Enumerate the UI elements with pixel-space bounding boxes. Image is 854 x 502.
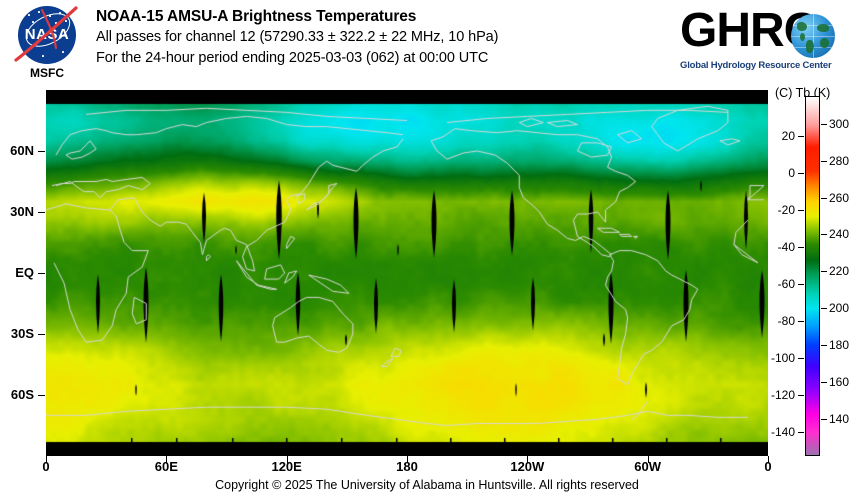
colorbar-tick-kelvin [821,161,827,162]
ghrc-logo: GHRC Global Hydrology Resource Center [678,4,846,80]
colorbar-tick-celsius [798,210,804,211]
page-header: NASA MSFC NOAA-15 AMSU-A Brightness Temp… [0,0,854,90]
page-title: NOAA-15 AMSU-A Brightness Temperatures [96,7,676,27]
map-y-label: 60S [0,387,34,402]
map-y-label: EQ [0,265,34,280]
map-y-tick [38,212,45,213]
colorbar-label-celsius: -140 [760,425,795,439]
colorbar-tick-celsius [798,432,804,433]
globe-icon [791,14,835,58]
map-raster [46,90,768,456]
colorbar-tick-celsius [798,284,804,285]
colorbar-label-celsius: 0 [760,166,795,180]
colorbar-tick-celsius [798,173,804,174]
nasa-wordmark: NASA [18,26,76,43]
colorbar-tick-celsius [798,247,804,248]
map-y-label: 30S [0,326,34,341]
colorbar-label-celsius: 20 [760,129,795,143]
colorbar-tick-kelvin [821,198,827,199]
colorbar-tick-kelvin [821,124,827,125]
colorbar-label-kelvin: 200 [829,301,849,315]
colorbar-tick-celsius [798,321,804,322]
colorbar-label-celsius: -100 [760,351,795,365]
colorbar-tick-kelvin [821,234,827,235]
colorbar-label-celsius: -20 [760,203,795,217]
brightness-temperature-map[interactable] [46,90,768,456]
colorbar-label-kelvin: 220 [829,264,849,278]
colorbar-label-kelvin: 300 [829,117,849,131]
page-subtitle-channel: All passes for channel 12 (57290.33 ± 32… [96,27,676,48]
colorbar[interactable] [805,96,820,456]
colorbar-label-kelvin: 240 [829,227,849,241]
colorbar-tick-kelvin [821,345,827,346]
colorbar-label-kelvin: 180 [829,338,849,352]
copyright-notice: Copyright © 2025 The University of Alaba… [0,478,854,492]
page-subtitle-period: For the 24-hour period ending 2025-03-03… [96,48,676,69]
map-x-label: 120E [263,459,311,474]
colorbar-label-celsius: -60 [760,277,795,291]
colorbar-tick-kelvin [821,382,827,383]
map-x-label: 60W [624,459,672,474]
map-y-tick [38,273,45,274]
map-x-label: 0 [22,459,70,474]
map-x-label: 0 [744,459,792,474]
map-y-tick [38,334,45,335]
colorbar-tick-celsius [798,136,804,137]
nasa-center-label: MSFC [10,66,84,80]
colorbar-label-celsius: -80 [760,314,795,328]
map-y-tick [38,395,45,396]
title-block: NOAA-15 AMSU-A Brightness Temperatures A… [96,7,676,69]
map-y-label: 30N [0,204,34,219]
colorbar-label-kelvin: 260 [829,191,849,205]
colorbar-tick-celsius [798,395,804,396]
map-y-tick [38,151,45,152]
colorbar-label-celsius: -40 [760,240,795,254]
colorbar-tick-celsius [798,358,804,359]
colorbar-label-kelvin: 160 [829,375,849,389]
nasa-meatball-icon: NASA [18,6,76,64]
colorbar-tick-kelvin [821,271,827,272]
colorbar-gradient [806,97,819,455]
colorbar-label-celsius: -120 [760,388,795,402]
map-y-label: 60N [0,143,34,158]
ghrc-tagline: Global Hydrology Resource Center [680,60,844,71]
colorbar-label-kelvin: 280 [829,154,849,168]
map-x-label: 180 [383,459,431,474]
colorbar-header: (C) Tb (K) [775,86,830,100]
colorbar-tick-kelvin [821,419,827,420]
colorbar-label-kelvin: 140 [829,412,849,426]
map-x-label: 120W [503,459,551,474]
colorbar-tick-kelvin [821,308,827,309]
map-x-label: 60E [142,459,190,474]
nasa-msfc-logo: NASA MSFC [10,4,84,84]
